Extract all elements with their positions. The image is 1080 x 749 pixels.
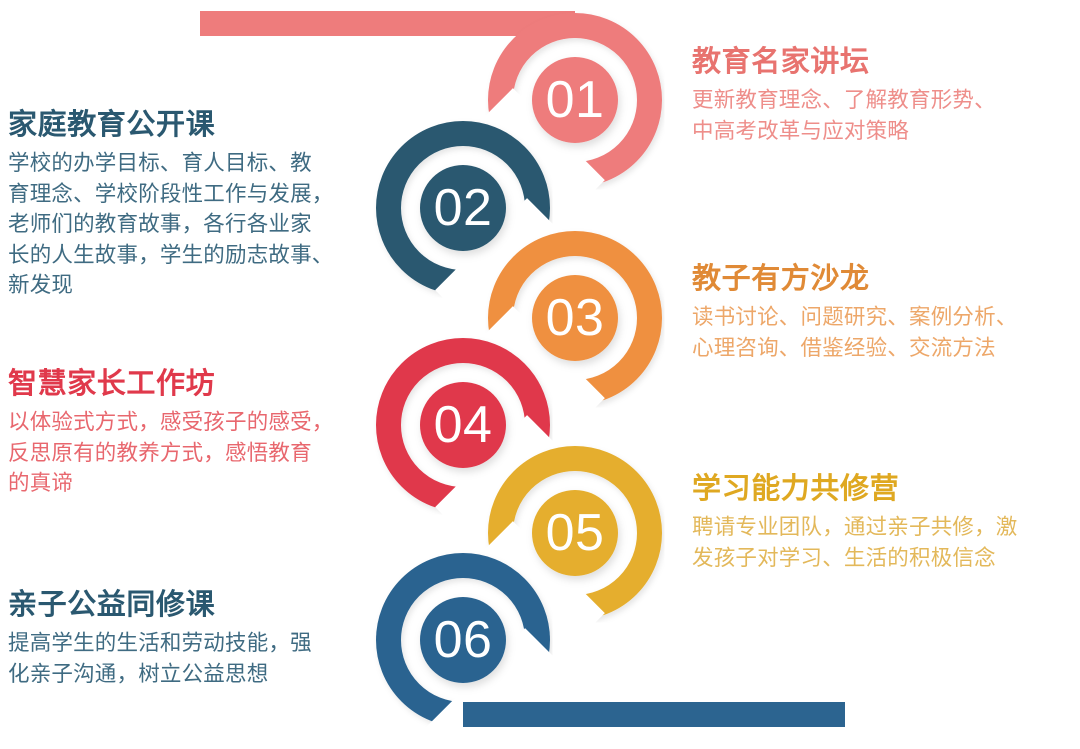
step-body-line: 反思原有的教养方式，感悟教育: [8, 438, 386, 469]
step-title-03: 教子有方沙龙: [692, 262, 1074, 297]
step-body-05: 聘请专业团队，通过亲子共修，激 发孩子对学习、生活的积极信念: [692, 512, 1074, 573]
step-text-01: 教育名家讲坛 更新教育理念、了解教育形势、 中高考改革与应对策略: [692, 45, 1074, 146]
step-text-04: 智慧家长工作坊 以体验式方式，感受孩子的感受， 反思原有的教养方式，感悟教育 的…: [8, 367, 386, 499]
step-body-line: 心理咨询、借鉴经验、交流方法: [692, 333, 1074, 364]
step-number-04: 04: [434, 396, 493, 454]
step-text-02: 家庭教育公开课 学校的办学目标、育人目标、教 育理念、学校阶段性工作与发展， 老…: [8, 108, 386, 301]
step-number-02: 02: [434, 179, 493, 237]
step-title-02: 家庭教育公开课: [8, 108, 386, 143]
step-title-05: 学习能力共修营: [692, 472, 1074, 507]
step-body-03: 读书讨论、问题研究、案例分析、 心理咨询、借鉴经验、交流方法: [692, 302, 1074, 363]
step-number-05: 05: [546, 504, 605, 562]
step-title-06: 亲子公益同修课: [8, 588, 386, 623]
step-body-line: 学校的办学目标、育人目标、教: [8, 148, 386, 179]
step-body-line: 更新教育理念、了解教育形势、: [692, 85, 1074, 116]
step-number-01: 01: [546, 71, 605, 129]
step-body-line: 读书讨论、问题研究、案例分析、: [692, 302, 1074, 333]
step-body-line: 化亲子沟通，树立公益思想: [8, 659, 386, 690]
step-body-06: 提高学生的生活和劳动技能，强 化亲子沟通，树立公益思想: [8, 628, 386, 689]
step-body-line: 育理念、学校阶段性工作与发展，: [8, 179, 386, 210]
step-body-02: 学校的办学目标、育人目标、教 育理念、学校阶段性工作与发展， 老师们的教育故事，…: [8, 148, 386, 301]
step-body-01: 更新教育理念、了解教育形势、 中高考改革与应对策略: [692, 85, 1074, 146]
step-number-06: 06: [434, 611, 493, 669]
step-body-line: 聘请专业团队，通过亲子共修，激: [692, 512, 1074, 543]
step-body-line: 长的人生故事，学生的励志故事、: [8, 240, 386, 271]
infographic-canvas: 06 05 04 03 02: [0, 0, 1080, 749]
step-text-03: 教子有方沙龙 读书讨论、问题研究、案例分析、 心理咨询、借鉴经验、交流方法: [692, 262, 1074, 363]
step-body-line: 的真谛: [8, 468, 386, 499]
step-text-05: 学习能力共修营 聘请专业团队，通过亲子共修，激 发孩子对学习、生活的积极信念: [692, 472, 1074, 573]
step-body-line: 提高学生的生活和劳动技能，强: [8, 628, 386, 659]
step-body-line: 老师们的教育故事，各行各业家: [8, 209, 386, 240]
step-number-03: 03: [546, 289, 605, 347]
step-title-01: 教育名家讲坛: [692, 45, 1074, 80]
step-body-line: 新发现: [8, 270, 386, 301]
step-body-line: 中高考改革与应对策略: [692, 116, 1074, 147]
step-body-line: 发孩子对学习、生活的积极信念: [692, 543, 1074, 574]
step-title-04: 智慧家长工作坊: [8, 367, 386, 402]
step-text-06: 亲子公益同修课 提高学生的生活和劳动技能，强 化亲子沟通，树立公益思想: [8, 588, 386, 689]
step-body-line: 以体验式方式，感受孩子的感受，: [8, 407, 386, 438]
step-body-04: 以体验式方式，感受孩子的感受， 反思原有的教养方式，感悟教育 的真谛: [8, 407, 386, 499]
